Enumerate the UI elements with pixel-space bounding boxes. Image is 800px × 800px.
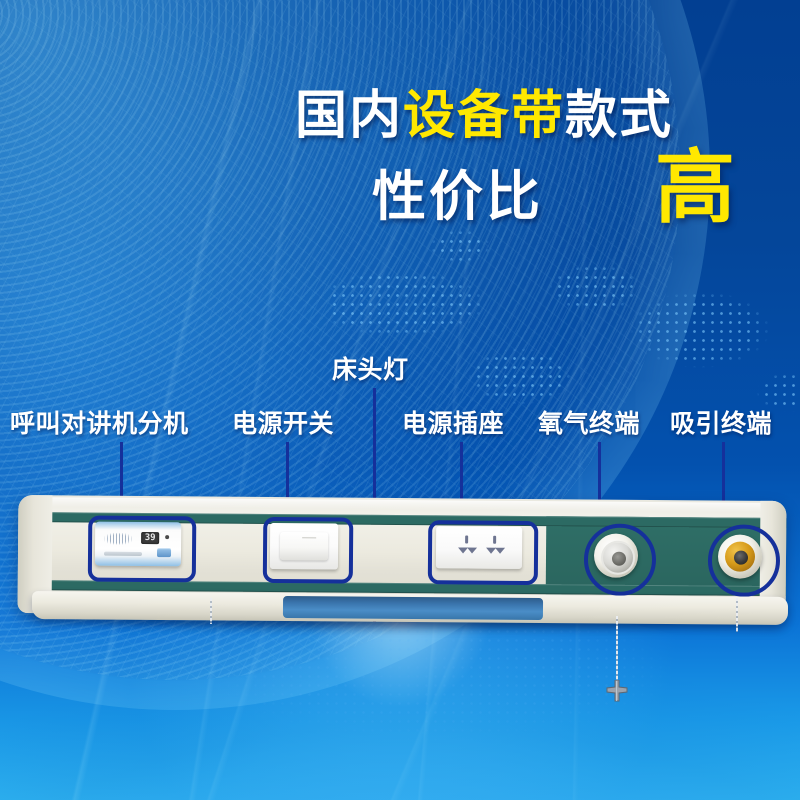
headline-line-1: 国内设备带款式 xyxy=(295,90,673,142)
medical-bed-head-unit: 39 xyxy=(18,498,786,638)
pull-cord-handle[interactable] xyxy=(605,680,629,702)
highlight-box-power-socket xyxy=(428,520,538,585)
panel-rail-insert xyxy=(283,596,543,620)
callout-label-bed-lamp: 床头灯 xyxy=(332,358,409,383)
pull-cord-right xyxy=(736,598,738,632)
callout-label-power-switch: 电源开关 xyxy=(232,412,334,437)
callout-label-power-socket: 电源插座 xyxy=(402,412,504,437)
pull-cord-center xyxy=(616,616,618,688)
highlight-circle-oxygen xyxy=(584,523,657,596)
panel-top-highlight xyxy=(26,497,778,513)
highlight-circle-suction xyxy=(708,524,781,597)
callout-label-suction-outlet: 吸引终端 xyxy=(670,412,772,437)
headline-line-2: 性价比 xyxy=(372,170,543,224)
cross-handle-icon xyxy=(605,680,629,702)
headline-seg-1: 国内 xyxy=(295,87,403,145)
headline-seg-3: 款式 xyxy=(565,87,673,145)
callout-label-intercom: 呼叫对讲机分机 xyxy=(10,412,189,437)
pull-cord-left xyxy=(210,598,212,624)
headline-block: 国内设备带款式 性价比 高 xyxy=(0,0,800,260)
promo-banner: 国内设备带款式 性价比 高 呼叫对讲机分机 电源开关 床头灯 电源插座 氧气终端… xyxy=(0,0,800,800)
headline-seg-2: 设备带 xyxy=(403,87,565,145)
headline-emphasis: 高 xyxy=(655,148,735,228)
highlight-box-intercom xyxy=(88,516,197,583)
highlight-box-power-switch xyxy=(263,517,354,584)
callout-label-oxygen-outlet: 氧气终端 xyxy=(538,412,640,437)
